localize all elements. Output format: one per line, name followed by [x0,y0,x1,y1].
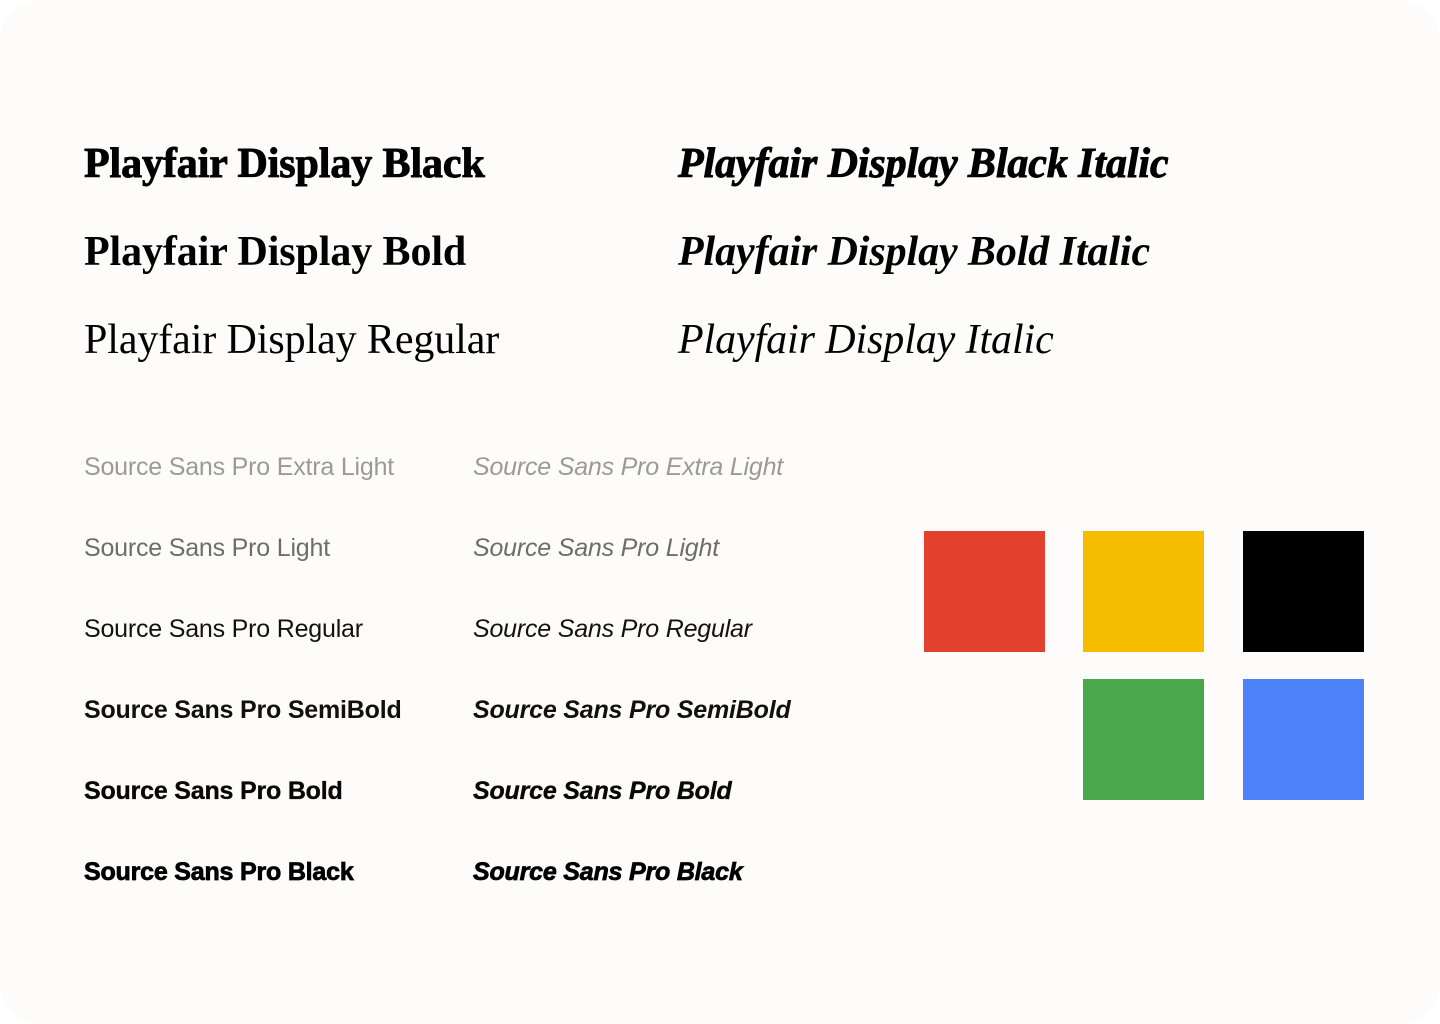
sans-specimen-semibold-italic: Source Sans Pro SemiBold [473,670,791,751]
color-swatch-black[interactable] [1243,531,1364,652]
sans-specimen-extra-light: Source Sans Pro Extra Light [84,427,394,508]
serif-specimen-row: Playfair Display Black Playfair Display … [0,120,1440,208]
sans-specimen-black: Source Sans Pro Black [84,832,354,913]
serif-specimen-black: Playfair Display Black [84,120,485,208]
serif-specimen-bold-italic: Playfair Display Bold Italic [678,208,1150,296]
sans-specimen-row: Source Sans Pro Extra Light Source Sans … [0,427,900,508]
serif-specimen-row: Playfair Display Bold Playfair Display B… [0,208,1440,296]
sans-specimen-black-italic: Source Sans Pro Black [473,832,743,913]
color-palette-grid [924,531,1366,799]
sans-specimen-row: Source Sans Pro Regular Source Sans Pro … [0,589,900,670]
serif-specimen-bold: Playfair Display Bold [84,208,466,296]
color-swatch-red[interactable] [924,531,1045,652]
sans-specimen-row: Source Sans Pro Bold Source Sans Pro Bol… [0,751,900,832]
sans-specimen-bold-italic: Source Sans Pro Bold [473,751,732,832]
sans-specimen-row: Source Sans Pro SemiBold Source Sans Pro… [0,670,900,751]
serif-specimen-regular: Playfair Display Regular [84,296,499,384]
color-swatch-yellow[interactable] [1083,531,1204,652]
serif-specimen-black-italic: Playfair Display Black Italic [678,120,1169,208]
sans-specimen-light: Source Sans Pro Light [84,508,330,589]
sans-specimen-row: Source Sans Pro Light Source Sans Pro Li… [0,508,900,589]
color-swatch-blue[interactable] [1243,679,1364,800]
sans-specimen-light-italic: Source Sans Pro Light [473,508,719,589]
serif-specimen-italic: Playfair Display Italic [678,296,1054,384]
color-swatch-green[interactable] [1083,679,1204,800]
sans-specimen-row: Source Sans Pro Black Source Sans Pro Bl… [0,832,900,913]
sans-specimen-regular-italic: Source Sans Pro Regular [473,589,752,670]
sans-specimen-semibold: Source Sans Pro SemiBold [84,670,402,751]
serif-specimen-row: Playfair Display Regular Playfair Displa… [0,296,1440,384]
sans-specimen-bold: Source Sans Pro Bold [84,751,343,832]
style-guide-card: Playfair Display Black Playfair Display … [0,0,1440,1024]
sans-specimen-extra-light-italic: Source Sans Pro Extra Light [473,427,783,508]
sans-specimen-regular: Source Sans Pro Regular [84,589,363,670]
